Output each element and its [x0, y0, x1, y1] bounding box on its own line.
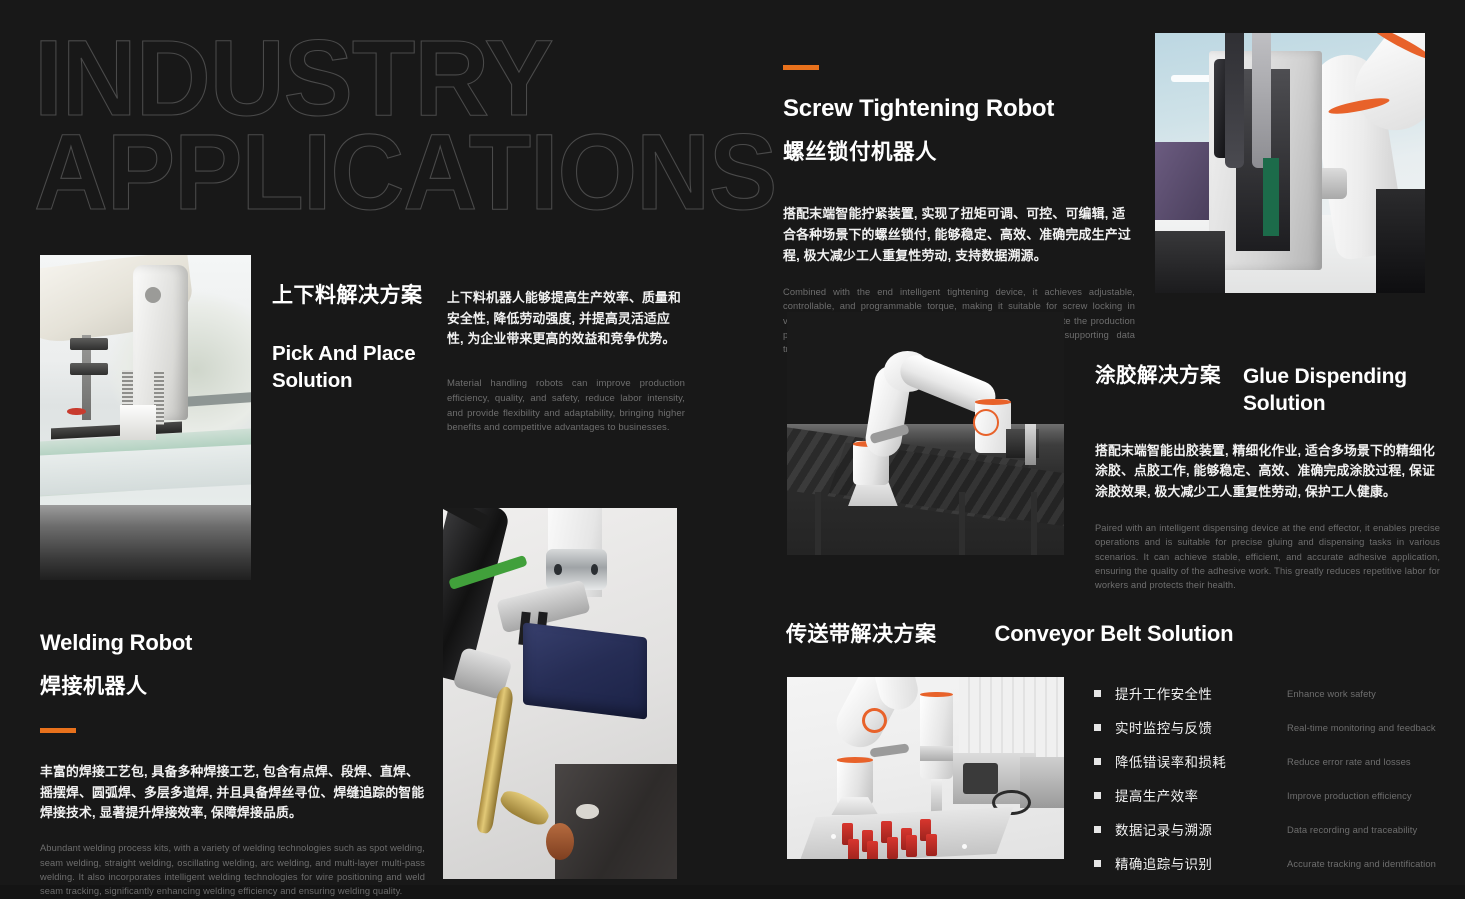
welding-robot-body-cn: 丰富的焊接工艺包, 具备多种焊接工艺, 包含有点焊、段焊、直焊、摇摆焊、圆弧焊、…: [40, 762, 425, 824]
pick-and-place-body-en: Material handling robots can improve pro…: [447, 377, 685, 436]
conveyor-benefit-label-en: Accurate tracking and identification: [1287, 858, 1436, 869]
glue-dispensing-title-en: Glue Dispending Solution: [1243, 363, 1440, 418]
pick-and-place-image-fade: [40, 505, 251, 580]
screw-tightening-title-cn: 螺丝锁付机器人: [783, 135, 1135, 166]
page-title-line-2: APPLICATIONS: [34, 120, 724, 223]
conveyor-benefit-label-en: Data recording and traceability: [1287, 824, 1417, 835]
bullet-square-icon: [1094, 690, 1101, 697]
glue-dispensing-body-en: Paired with an intelligent dispensing de…: [1095, 521, 1440, 593]
screw-tightening-body-cn: 搭配末端智能拧紧装置, 实现了扭矩可调、可控、可编辑, 适合各种场景下的螺丝锁付…: [783, 204, 1135, 267]
conveyor-benefit-label-cn: 实时监控与反馈: [1115, 717, 1287, 737]
conveyor-benefit-label-cn: 精确追踪与识别: [1115, 853, 1287, 873]
conveyor-benefit-label-en: Enhance work safety: [1287, 688, 1376, 699]
welding-robot-block: Welding Robot 焊接机器人 丰富的焊接工艺包, 具备多种焊接工艺, …: [40, 630, 425, 899]
conveyor-benefit-item: 精确追踪与识别Accurate tracking and identificat…: [1094, 846, 1449, 880]
conveyor-benefit-label-cn: 提升工作安全性: [1115, 683, 1287, 703]
pick-and-place-body-cn: 上下料机器人能够提高生产效率、质量和安全性, 降低劳动强度, 并提高灵活适应性,…: [447, 288, 685, 350]
glue-dispensing-body-cn: 搭配末端智能出胶装置, 精细化作业, 适合多场景下的精细化涂胶、点胶工作, 能够…: [1095, 441, 1440, 503]
conveyor-benefit-label-cn: 提高生产效率: [1115, 785, 1287, 805]
glue-dispensing-block: 涂胶解决方案 Glue Dispending Solution 搭配末端智能出胶…: [1095, 363, 1440, 593]
pick-and-place-titles: 上下料解决方案 Pick And Place Solution: [272, 282, 430, 394]
conveyor-benefit-item: 数据记录与溯源Data recording and traceability: [1094, 812, 1449, 846]
screw-tightening-accent-bar: [783, 65, 819, 70]
bullet-square-icon: [1094, 724, 1101, 731]
welding-robot-body-en: Abundant welding process kits, with a va…: [40, 841, 425, 899]
conveyor-belt-title-cn: 传送带解决方案: [786, 618, 937, 648]
glue-dispensing-image: [787, 312, 1064, 555]
bullet-square-icon: [1094, 792, 1101, 799]
pick-and-place-title-en: Pick And Place Solution: [272, 341, 430, 393]
screw-tightening-image: [1155, 33, 1425, 293]
conveyor-benefit-item: 提升工作安全性Enhance work safety: [1094, 676, 1449, 710]
welding-robot-image: [443, 508, 677, 879]
conveyor-belt-titles: 传送带解决方案 Conveyor Belt Solution: [786, 618, 1233, 648]
conveyor-benefit-label-en: Reduce error rate and losses: [1287, 756, 1411, 767]
conveyor-benefit-item: 降低错误率和损耗Reduce error rate and losses: [1094, 744, 1449, 778]
pick-and-place-title-cn: 上下料解决方案: [272, 282, 430, 310]
conveyor-benefit-label-cn: 降低错误率和损耗: [1115, 751, 1287, 771]
welding-robot-title-en: Welding Robot: [40, 630, 425, 656]
conveyor-benefit-item: 提高生产效率Improve production efficiency: [1094, 778, 1449, 812]
conveyor-benefit-label-en: Improve production efficiency: [1287, 790, 1412, 801]
conveyor-belt-image: [787, 677, 1064, 859]
bullet-square-icon: [1094, 860, 1101, 867]
screw-tightening-title-en: Screw Tightening Robot: [783, 95, 1135, 123]
page-title: INDUSTRY APPLICATIONS: [34, 26, 694, 214]
glue-dispensing-title-cn: 涂胶解决方案: [1095, 363, 1221, 390]
conveyor-belt-title-en: Conveyor Belt Solution: [995, 621, 1234, 647]
conveyor-belt-benefits-list: 提升工作安全性Enhance work safety实时监控与反馈Real-ti…: [1094, 676, 1449, 880]
welding-robot-accent-bar: [40, 728, 76, 733]
conveyor-benefit-label-cn: 数据记录与溯源: [1115, 819, 1287, 839]
welding-robot-title-cn: 焊接机器人: [40, 670, 425, 700]
bullet-square-icon: [1094, 758, 1101, 765]
conveyor-benefit-item: 实时监控与反馈Real-time monitoring and feedback: [1094, 710, 1449, 744]
pick-and-place-image: [40, 255, 251, 505]
bullet-square-icon: [1094, 826, 1101, 833]
conveyor-benefit-label-en: Real-time monitoring and feedback: [1287, 722, 1436, 733]
pick-and-place-body: 上下料机器人能够提高生产效率、质量和安全性, 降低劳动强度, 并提高灵活适应性,…: [447, 288, 685, 436]
